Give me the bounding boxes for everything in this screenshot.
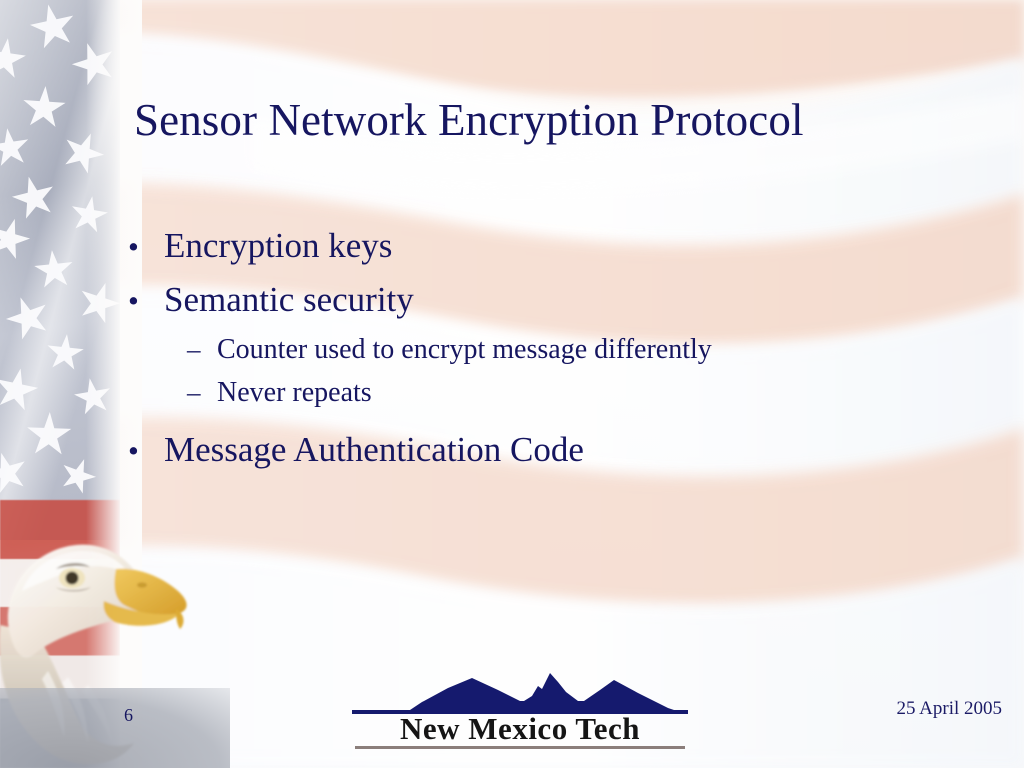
logo-wordmark: New Mexico Tech: [352, 713, 688, 745]
bullet-marker-dash: –: [187, 336, 217, 363]
bullet-marker-dot: •: [128, 285, 164, 316]
mountain-range-icon: [352, 668, 688, 714]
new-mexico-tech-logo: New Mexico Tech: [352, 668, 688, 760]
bullet-marker-dash: –: [187, 379, 217, 406]
bullet-item: • Message Authentication Code: [128, 432, 988, 467]
slide-title: Sensor Network Encryption Protocol: [134, 96, 994, 146]
bullet-marker-dot: •: [128, 435, 164, 466]
bullet-text: Message Authentication Code: [164, 432, 988, 467]
sub-bullet-item: – Counter used to encrypt message differ…: [187, 336, 988, 364]
bullet-item: • Semantic security: [128, 282, 988, 317]
logo-underline: [355, 746, 685, 749]
bullet-marker-dot: •: [128, 231, 164, 262]
bullet-text: Encryption keys: [164, 228, 988, 263]
eagle-shoulder-shading: [0, 688, 230, 768]
slide-date: 25 April 2005: [896, 698, 1002, 720]
slide-number: 6: [124, 705, 133, 726]
bullet-text: Semantic security: [164, 282, 988, 317]
bullet-item: • Encryption keys: [128, 228, 988, 263]
sub-bullet-item: – Never repeats: [187, 379, 988, 407]
slide-body-list: • Encryption keys • Semantic security – …: [128, 228, 988, 486]
sub-bullet-text: Never repeats: [217, 379, 988, 407]
sub-bullet-text: Counter used to encrypt message differen…: [217, 336, 988, 364]
presentation-slide: Sensor Network Encryption Protocol • Enc…: [0, 0, 1024, 768]
